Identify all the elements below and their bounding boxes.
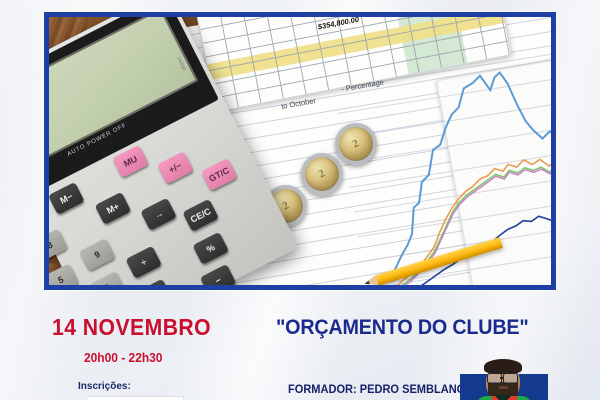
calc-key-arrow[interactable]: → <box>140 198 177 231</box>
event-time: 20h00 - 22h30 <box>84 350 162 365</box>
euro-coin: 2 <box>301 153 343 195</box>
calc-key-percent[interactable]: % <box>192 232 229 265</box>
registration-box[interactable] <box>86 396 184 400</box>
finance-photo: # Closed Total $ in Pipe $13,500 $15,200… <box>49 17 551 285</box>
portrait-mouth <box>499 386 508 389</box>
calc-key-8[interactable]: 8 <box>49 229 68 262</box>
calc-key-divide[interactable]: ÷ <box>125 246 162 279</box>
calculator-lcd-display <box>49 17 198 166</box>
registration-label: Inscrições: <box>78 381 131 392</box>
speaker-name: FORMADOR: PEDRO SEMBLANO <box>288 382 465 396</box>
event-date: 14 NOVEMBRO <box>52 314 211 341</box>
calc-key-ce-c[interactable]: CE/C <box>182 199 219 232</box>
portrait-hair <box>484 359 522 374</box>
calc-key-sign[interactable]: +/− <box>157 151 194 184</box>
calc-key-9[interactable]: 9 <box>79 238 116 271</box>
calc-key-m-plus[interactable]: M+ <box>95 192 132 225</box>
calc-key-m-minus[interactable]: M− <box>49 182 85 215</box>
calc-key-multiply[interactable]: × <box>135 279 172 285</box>
chart-series-b <box>350 145 551 285</box>
portrait-glasses-left <box>487 373 502 384</box>
photo-frame: # Closed Total $ in Pipe $13,500 $15,200… <box>44 12 556 290</box>
pencil-lead <box>364 280 370 285</box>
speaker-portrait <box>454 358 554 400</box>
calc-key-gt-c[interactable]: GT/C <box>201 158 238 191</box>
euro-coin: 2 <box>335 123 377 165</box>
calc-key-minus[interactable]: − <box>200 264 237 285</box>
event-title: "ORÇAMENTO DO CLUBE" <box>276 316 529 340</box>
portrait-glasses-bridge <box>500 377 504 379</box>
portrait-glasses-right <box>503 373 518 384</box>
poster-canvas: # Closed Total $ in Pipe $13,500 $15,200… <box>0 0 600 400</box>
calc-key-6[interactable]: 6 <box>89 271 126 285</box>
